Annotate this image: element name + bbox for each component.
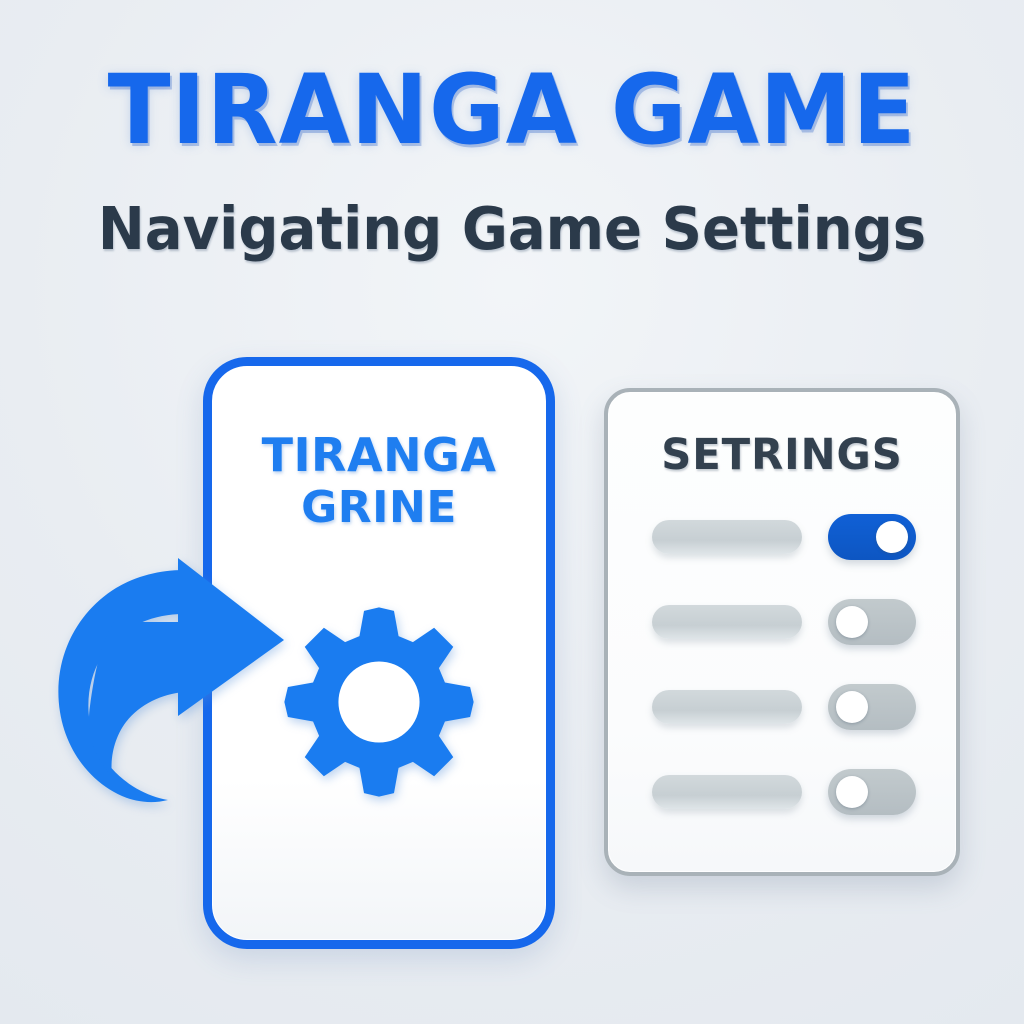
settings-rows-list [608, 514, 956, 854]
setting-label-placeholder [652, 775, 802, 809]
settings-row[interactable] [608, 599, 956, 645]
setting-toggle-1[interactable] [828, 514, 916, 560]
poster-canvas: TIRANGA GAME Navigating Game Settings TI… [0, 0, 1024, 1024]
page-title: TIRANGA GAME [20, 62, 1003, 158]
settings-row[interactable] [608, 769, 956, 815]
setting-label-placeholder [652, 605, 802, 639]
setting-toggle-2[interactable] [828, 599, 916, 645]
toggle-knob [836, 691, 868, 723]
setting-label-placeholder [652, 520, 802, 554]
phone-brand: TIRANGA GRINE [212, 428, 546, 534]
setting-label-placeholder [652, 690, 802, 724]
settings-row[interactable] [608, 684, 956, 730]
setting-toggle-3[interactable] [828, 684, 916, 730]
setting-toggle-4[interactable] [828, 769, 916, 815]
settings-panel-heading: SETRINGS [613, 430, 951, 480]
curved-arrow-right-icon [52, 552, 310, 814]
phone-brand-line1: TIRANGA [262, 428, 497, 482]
settings-panel: SETRINGS [604, 388, 960, 876]
toggle-knob [836, 776, 868, 808]
toggle-knob [836, 606, 868, 638]
page-subtitle: Navigating Game Settings [26, 198, 999, 260]
phone-brand-line2: GRINE [212, 482, 546, 534]
toggle-knob [876, 521, 908, 553]
settings-row[interactable] [608, 514, 956, 560]
